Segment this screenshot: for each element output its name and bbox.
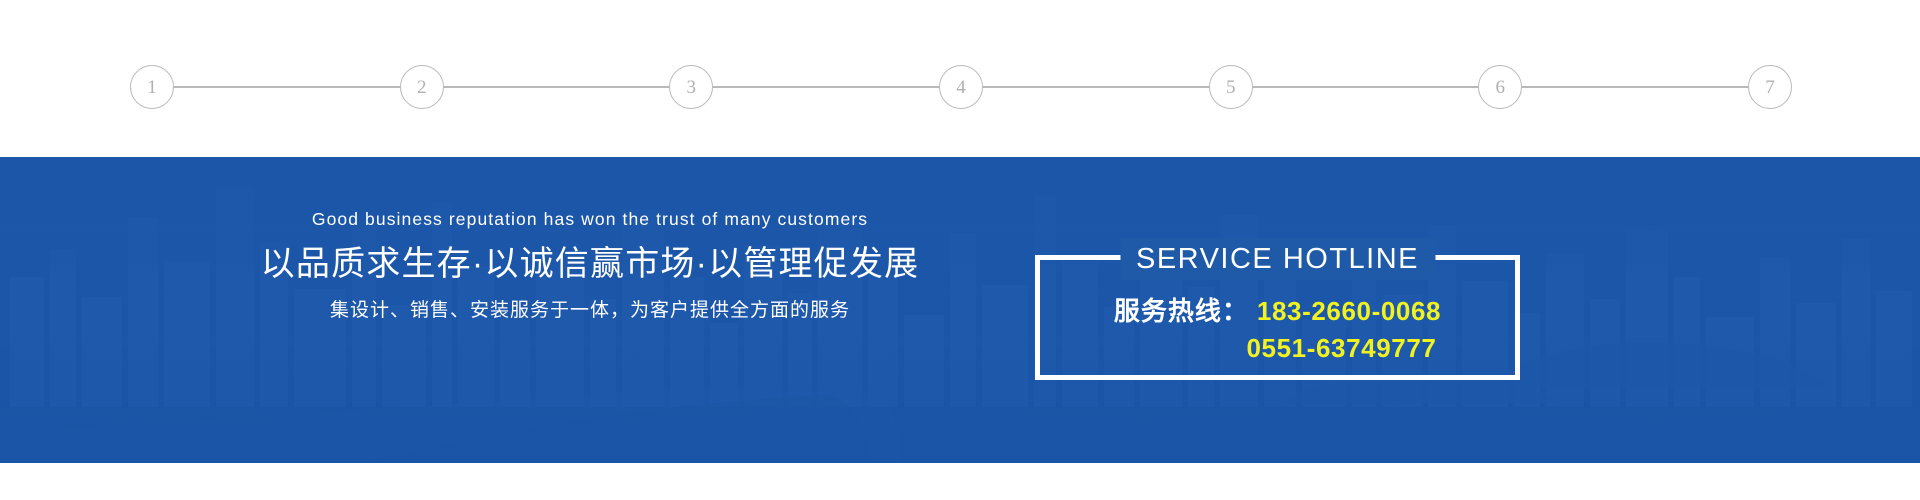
step-node-5[interactable]: 5 <box>1209 65 1253 109</box>
promo-banner: Good business reputation has won the tru… <box>0 157 1920 463</box>
step-node-6-label: 6 <box>1496 78 1506 97</box>
step-node-1-label: 1 <box>147 78 157 97</box>
step-node-6[interactable]: 6 <box>1478 65 1522 109</box>
service-hotline-numbers: 服务热线：183-2660-0068 0551-63749777 <box>1040 293 1515 367</box>
slogan-subtext: 集设计、销售、安装服务于一体，为客户提供全方面的服务 <box>240 299 940 323</box>
slogan-english: Good business reputation has won the tru… <box>240 209 940 230</box>
slogan-main-headline: 以品质求生存·以诚信赢市场·以管理促发展 <box>240 243 940 286</box>
step-node-2[interactable]: 2 <box>400 65 444 109</box>
step-node-7-label: 7 <box>1765 78 1775 97</box>
hotline-number-primary[interactable]: 183-2660-0068 <box>1257 296 1441 326</box>
hotline-row-secondary: 0551-63749777 <box>1040 330 1515 367</box>
slogan-block: Good business reputation has won the tru… <box>240 209 940 322</box>
hotline-row-primary: 服务热线：183-2660-0068 <box>1040 293 1515 330</box>
bottom-white-gap <box>0 463 1920 500</box>
page-root: 1 2 3 4 5 6 7 <box>0 0 1920 500</box>
stepper-strip: 1 2 3 4 5 6 7 <box>0 0 1920 157</box>
step-node-7[interactable]: 7 <box>1748 65 1792 109</box>
hotline-label: 服务热线： <box>1114 296 1249 326</box>
step-node-3[interactable]: 3 <box>669 65 713 109</box>
step-node-2-label: 2 <box>417 78 427 97</box>
service-hotline-title: SERVICE HOTLINE <box>1120 238 1435 280</box>
step-node-1[interactable]: 1 <box>130 65 174 109</box>
step-node-3-label: 3 <box>687 78 697 97</box>
hotline-number-secondary[interactable]: 0551-63749777 <box>1247 333 1437 363</box>
step-node-4[interactable]: 4 <box>939 65 983 109</box>
service-hotline-box: SERVICE HOTLINE 服务热线：183-2660-0068 0551-… <box>1035 255 1520 380</box>
step-node-4-label: 4 <box>956 78 966 97</box>
step-node-5-label: 5 <box>1226 78 1236 97</box>
